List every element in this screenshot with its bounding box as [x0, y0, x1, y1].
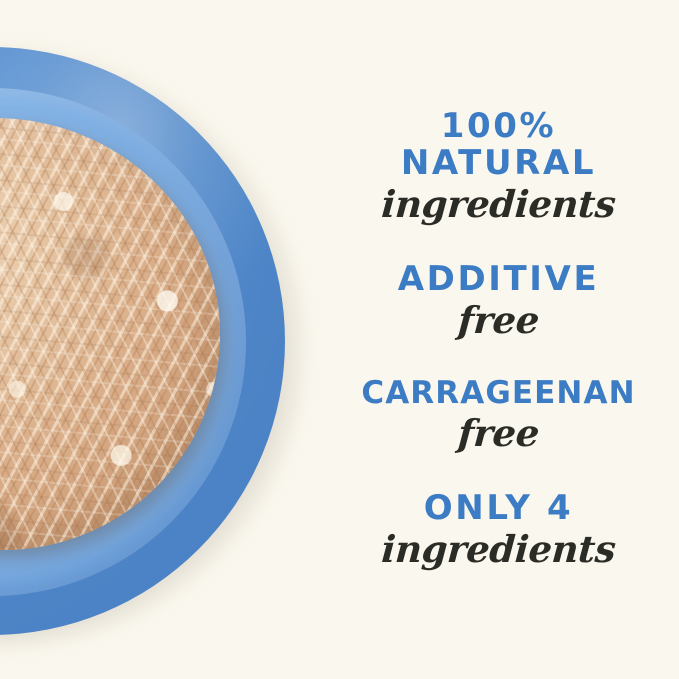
claim-headline-line: ONLY 4 [324, 490, 673, 527]
claim-headline-line: 100% [324, 108, 673, 145]
claim-script: ingredients [323, 529, 675, 570]
claim-script: free [323, 413, 675, 454]
claim-carrageenan-free: CARRAGEENAN free [324, 377, 673, 454]
claim-headline: ADDITIVE [324, 261, 673, 298]
claim-headline-line: NATURAL [324, 145, 673, 182]
shredded-chicken-mound [0, 118, 220, 550]
product-claims-graphic: 100% NATURAL ingredients ADDITIVE free C… [0, 0, 679, 679]
shred-shadow-layer [0, 118, 220, 550]
claim-only-4-ingredients: ONLY 4 ingredients [324, 490, 673, 570]
claims-panel: 100% NATURAL ingredients ADDITIVE free C… [318, 0, 679, 679]
claim-headline-line: CARRAGEENAN [324, 377, 673, 410]
claim-additive-free: ADDITIVE free [324, 261, 673, 341]
claim-script: free [323, 300, 675, 341]
claim-headline: 100% NATURAL [324, 108, 673, 181]
claim-natural: 100% NATURAL ingredients [324, 108, 673, 225]
claim-script: ingredients [323, 184, 675, 225]
product-photo [0, 0, 340, 679]
claim-headline: ONLY 4 [324, 490, 673, 527]
claim-headline: CARRAGEENAN [324, 377, 673, 410]
claim-headline-line: ADDITIVE [324, 261, 673, 298]
